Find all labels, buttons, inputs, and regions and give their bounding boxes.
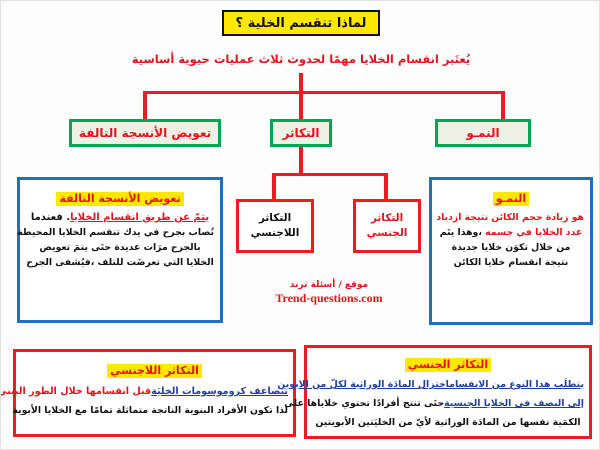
connector-branch-asexual xyxy=(272,173,276,200)
watermark-english: Trend-questions.com xyxy=(244,291,414,305)
category-box-tissue-replacement[interactable]: تعويض الأنسجة التالفة xyxy=(69,119,221,147)
detail-line-sexual-1-a: يتطلَب هذا النوع من الانقسام xyxy=(449,379,584,390)
detail-line-asexual-1-rest: قبل انقسامها خلال الطور البيني ، xyxy=(0,386,151,397)
category-label-tissue: تعويض الأنسجة التالفة xyxy=(79,126,211,140)
detail-line-growth-2-black: ،وهذا يتَم xyxy=(440,227,482,238)
detail-box-sexual-reproduction: التكاثر الجنسي يتطلَب هذا النوع من الانق… xyxy=(304,345,592,439)
watermark: موقع / أسئلة ترند Trend-questions.com xyxy=(244,279,414,305)
detail-line: هو زيادة حجم الكائن نتيجة ازدياد xyxy=(438,210,584,225)
detail-line-sexual-1-b: اختزال المادَة الوراثية لكلّ من الابوين xyxy=(277,379,449,390)
detail-line: إلى النصف في الخلايا الجنسيةحتَى تنتج أف… xyxy=(312,396,584,411)
detail-line-tissue-1-black: . فعندما xyxy=(31,212,70,223)
subcategory-label-asexual-line1: التكاثر xyxy=(259,211,291,226)
subcategory-box-sexual-reproduction[interactable]: التكاثر الجنسي xyxy=(353,199,421,253)
category-box-growth[interactable]: النمـو xyxy=(435,119,531,147)
detail-line: نتيجة انقسام خلايا الكائن xyxy=(438,255,584,270)
detail-line: تتضاعف كروموسومات الخليَةقبل انقسامها خل… xyxy=(21,384,288,399)
connector-branch-tissue xyxy=(143,91,147,120)
detail-box-asexual-reproduction: التكاثر اللاجنسي تتضاعف كروموسومات الخلي… xyxy=(13,349,296,437)
connector-branch-sexual xyxy=(384,173,388,200)
detail-line-tissue-1-red: يتمّ عن طريق انقسام الخلايا xyxy=(70,212,209,223)
detail-line-growth-2-red: عدد الخلايا في جسمه xyxy=(485,227,582,238)
connector-branch-growth xyxy=(501,91,505,120)
detail-line: يتمّ عن طريق انقسام الخلايا. فعندما xyxy=(26,210,214,225)
category-box-reproduction[interactable]: التكاثر xyxy=(270,119,332,147)
detail-heading-asexual: التكاثر اللاجنسي xyxy=(107,364,202,378)
detail-heading-growth: النمـو xyxy=(493,192,529,206)
detail-line-asexual-1-underlined: تتضاعف كروموسومات الخليَة xyxy=(151,386,288,397)
detail-line: لذا تكون الأفراد البنوية الناتجة متماثلة… xyxy=(21,403,288,418)
detail-line: من خلال تكوَن خلايا جديدة xyxy=(438,240,584,255)
detail-box-tissue-replacement: تعويض الأنسجة التالفة يتمّ عن طريق انقسا… xyxy=(17,177,223,323)
detail-line-sexual-2-a: إلى النصف في الخلايا الجنسية xyxy=(444,398,584,409)
subcategory-label-sexual-line1: التكاثر xyxy=(371,211,403,226)
detail-box-growth: النمـو هو زيادة حجم الكائن نتيجة ازدياد … xyxy=(429,177,593,325)
connector-reproduction-horizontal xyxy=(273,173,387,176)
connector-top-horizontal xyxy=(144,91,504,94)
category-label-growth: النمـو xyxy=(466,126,499,140)
detail-line: الخلايا التي تعرضَت للتلف ،فيُشفى الجرح xyxy=(26,255,214,270)
detail-line-sexual-2-b: حتَى تنتج أفرادًا تحتوي خلاياها على xyxy=(284,398,444,409)
connector-title-stem xyxy=(299,73,303,119)
subtitle: يُعتَبر انقسام الخلايا مهمًا لحدوث ثلاث … xyxy=(71,49,531,69)
diagram-canvas: لماذا تنقسم الخلية ؟ يُعتَبر انقسام الخل… xyxy=(0,0,600,450)
subcategory-label-sexual-line2: الجنسي xyxy=(367,226,408,241)
connector-reproduction-stem xyxy=(299,147,303,174)
detail-line: يتطلَب هذا النوع من الانقساماختزال الماد… xyxy=(312,377,584,392)
detail-line: عدد الخلايا في جسمه ،وهذا يتَم xyxy=(438,225,584,240)
subcategory-label-asexual-line2: اللاجنسي xyxy=(251,226,300,241)
page-title-text: لماذا تنقسم الخلية ؟ xyxy=(236,16,367,31)
detail-line: بالجرح مرَات عديدة حتَى يتمَ تعويض xyxy=(26,240,214,255)
page-title: لماذا تنقسم الخلية ؟ xyxy=(222,10,380,36)
detail-heading-tissue: تعويض الأنسجة التالفة xyxy=(56,192,183,206)
subtitle-text: يُعتَبر انقسام الخلايا مهمًا لحدوث ثلاث … xyxy=(132,52,470,66)
watermark-arabic: موقع / أسئلة ترند xyxy=(244,279,414,291)
subcategory-box-asexual-reproduction[interactable]: التكاثر اللاجنسي xyxy=(236,199,314,253)
category-label-reproduction: التكاثر xyxy=(283,126,320,140)
detail-heading-sexual: التكاثر الجنسي xyxy=(405,358,491,372)
detail-line: الكمَية نفسها من المادَة الوراثية لأيّ م… xyxy=(312,415,584,430)
detail-line: تُصاب بجرح في يدك تنقسم الخلايا المحيطة xyxy=(26,225,214,240)
